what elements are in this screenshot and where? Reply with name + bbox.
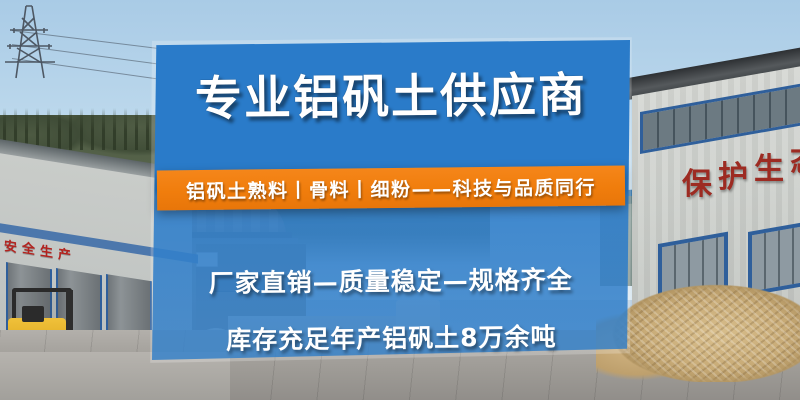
subline-group: 厂家直销—质量稳定—规格齐全 库存充足年产铝矾土8万余吨 (152, 259, 631, 357)
tagline-strip: 铝矾土熟料丨骨料丨细粉——科技与品质同行 (157, 166, 625, 211)
headline: 专业铝矾土供应商 (152, 71, 630, 123)
text-overlay-group: 专业铝矾土供应商 铝矾土熟料丨骨料丨细粉——科技与品质同行 厂家直销—质量稳定—… (0, 0, 800, 400)
promotional-banner: 安 全 生 产 保 护 生 态 专业铝矾土供 (0, 0, 800, 400)
subline-1: 厂家直销—质量稳定—规格齐全 (152, 259, 630, 300)
tagline-text: 铝矾土熟料丨骨料丨细粉——科技与品质同行 (157, 166, 625, 211)
subline-2: 库存充足年产铝矾土8万余吨 (152, 316, 630, 357)
